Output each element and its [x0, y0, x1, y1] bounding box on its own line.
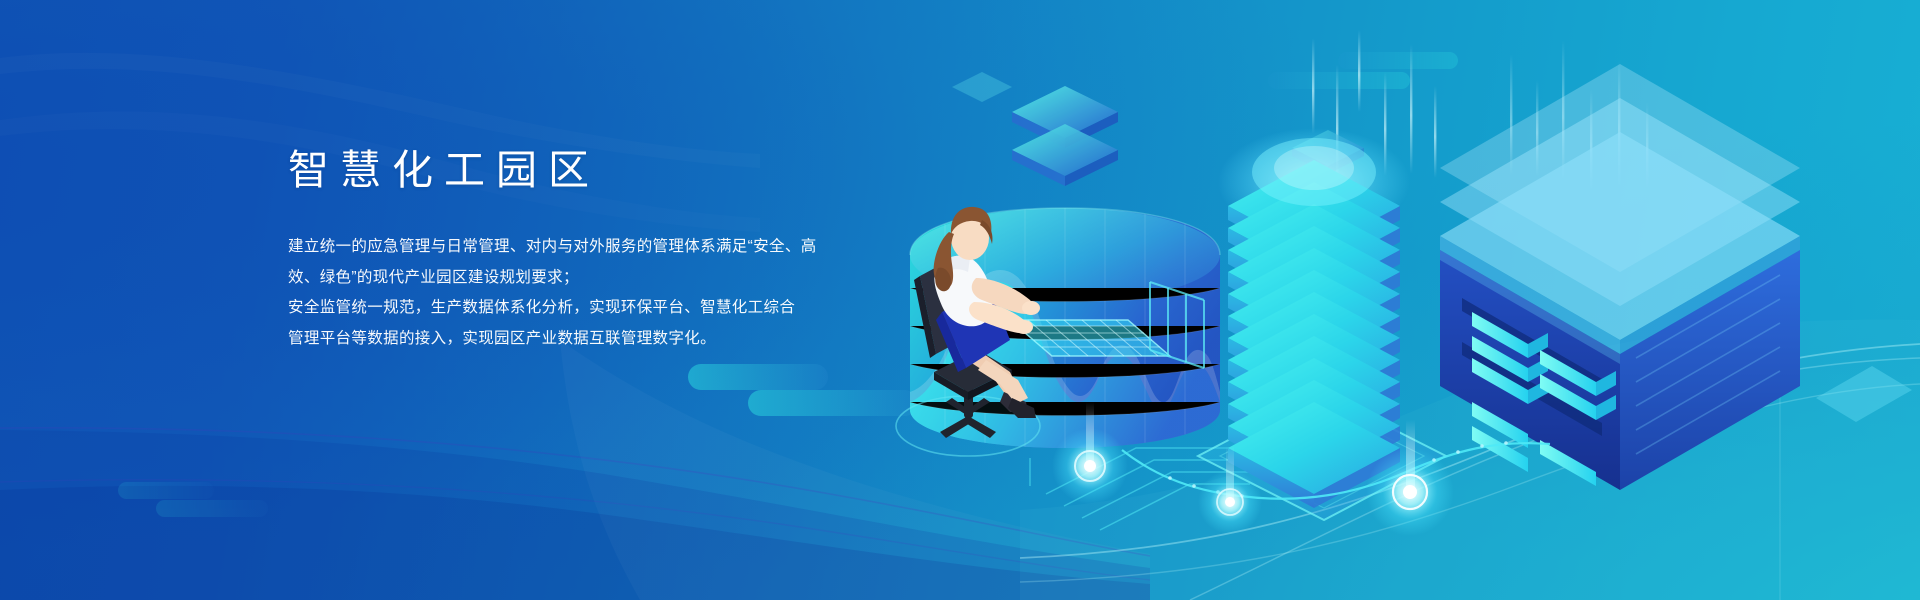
glow-node	[1198, 446, 1262, 534]
tower-disc	[1228, 380, 1400, 486]
dome-chart-wave	[910, 208, 1220, 450]
person-ponytail	[934, 232, 954, 288]
person-shoe	[1008, 398, 1036, 418]
cloud-motif-left	[688, 364, 918, 424]
tower-disc	[1228, 248, 1400, 354]
data-connector-path	[1122, 443, 1550, 499]
server-unit	[1472, 312, 1548, 358]
description-line-3: 安全监管统一规范，生产数据体系化分析，实现环保平台、智慧化工综合	[288, 293, 928, 324]
description-line-4: 管理平台等数据的接入，实现园区产业数据互联管理数字化。	[288, 324, 928, 355]
rack-face-right-lines	[1636, 275, 1780, 454]
glow-node	[1052, 402, 1128, 504]
server-unit	[1540, 374, 1616, 420]
person-hand	[1015, 320, 1033, 334]
office-chair-base	[940, 382, 996, 438]
cloud-motif-top-right	[1268, 52, 1458, 96]
floating-cube-stack	[1012, 86, 1118, 186]
page-title: 智慧化工园区	[288, 148, 928, 192]
floating-cube-small	[1292, 130, 1364, 174]
hero-copy: 智慧化工园区 建立统一的应急管理与日常管理、对内与对外服务的管理体系满足“安全、…	[288, 148, 928, 354]
description-line-2: 效、绿色”的现代产业园区建设规划要求；	[288, 263, 928, 294]
tower-disc	[1228, 226, 1400, 332]
tower-disc	[1228, 336, 1400, 442]
glow-node	[1366, 420, 1454, 536]
tower-disc	[1228, 270, 1400, 376]
tower-disc	[1228, 182, 1400, 288]
tower-disc	[1228, 292, 1400, 398]
person-shirt	[934, 256, 992, 327]
person-skirt	[942, 288, 1010, 368]
server-unit	[1540, 440, 1596, 486]
background-waves-left	[0, 340, 1150, 600]
person-arm	[972, 278, 1034, 314]
person-hand	[1022, 301, 1040, 315]
server-unit	[1472, 426, 1528, 472]
server-unit	[1472, 358, 1548, 404]
stacked-disc-tower	[1218, 128, 1410, 508]
tower-disc	[1228, 358, 1400, 464]
server-rack-building	[1440, 64, 1800, 490]
floating-plate-right	[1816, 366, 1912, 422]
hero-banner: 智慧化工园区 建立统一的应急管理与日常管理、对内与对外服务的管理体系满足“安全、…	[0, 0, 1920, 600]
person-head	[951, 216, 989, 260]
person-shoe	[1000, 392, 1028, 412]
tower-base-platform	[1198, 392, 1446, 520]
data-connector-path-dots	[1168, 441, 1508, 498]
person-leg	[970, 350, 1020, 398]
server-unit	[1540, 350, 1616, 396]
data-person-at-keyboard	[896, 207, 1204, 456]
hero-description: 建立统一的应急管理与日常管理、对内与对外服务的管理体系满足“安全、高 效、绿色”…	[288, 232, 928, 354]
office-chair-seat	[934, 350, 1012, 392]
tower-disc	[1228, 204, 1400, 310]
holographic-keyboard	[1010, 282, 1204, 368]
floating-cube-far	[952, 72, 1012, 102]
cloud-motif-bottom-left	[118, 482, 268, 522]
wire-grid-lines	[1030, 448, 1250, 530]
person-leg	[978, 360, 1028, 404]
smart-park-illustration	[850, 20, 1920, 580]
data-rain-lines	[1312, 30, 1648, 190]
tower-disc	[1228, 160, 1400, 266]
server-unit	[1472, 402, 1528, 448]
background-waves-right	[1020, 300, 1920, 600]
rack-shelf-left	[1462, 298, 1616, 486]
person-hair	[951, 207, 991, 234]
description-line-1: 建立统一的应急管理与日常管理、对内与对外服务的管理体系满足“安全、高	[288, 232, 928, 263]
chart-dome-panel	[910, 208, 1220, 450]
person-arm	[969, 302, 1027, 333]
tower-disc	[1228, 402, 1400, 508]
tower-disc	[1228, 314, 1400, 420]
server-unit	[1472, 336, 1548, 382]
